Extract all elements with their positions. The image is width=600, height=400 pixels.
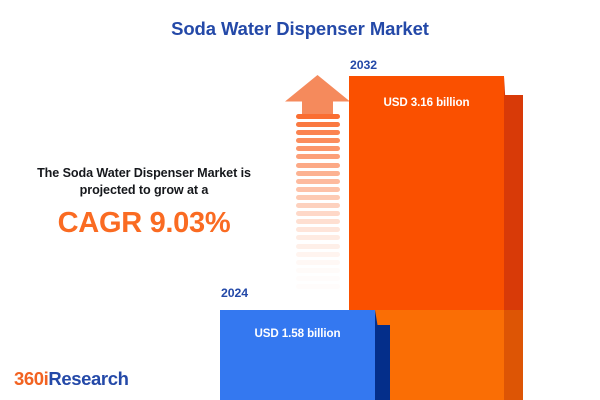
arrow-shaft-stripe	[296, 211, 340, 216]
arrow-shaft-stripe	[296, 130, 340, 135]
bar-2032-year-label: 2032	[350, 58, 377, 72]
bar-2024-front-face	[220, 310, 375, 400]
statement-block: The Soda Water Dispenser Market is proje…	[8, 165, 280, 239]
bar-2024-value-label: USD 1.58 billion	[220, 327, 375, 340]
page-title: Soda Water Dispenser Market	[0, 18, 600, 40]
bar-2024: 2024 USD 1.58 billion	[212, 286, 397, 400]
brand-logo-part-a: 360i	[14, 368, 48, 389]
infographic-canvas: Soda Water Dispenser Market The Soda Wat…	[0, 0, 600, 400]
arrow-shaft-stripe	[296, 260, 340, 265]
up-arrow-shaft-icon	[296, 114, 340, 296]
statement-text: The Soda Water Dispenser Market is proje…	[8, 165, 280, 199]
arrow-shaft-stripe	[296, 244, 340, 249]
cagr-value: CAGR 9.03%	[8, 207, 280, 239]
arrow-shaft-stripe	[296, 138, 340, 143]
arrow-shaft-stripe	[296, 163, 340, 168]
arrow-shaft-stripe	[296, 114, 340, 119]
bar-2024-year-label: 2024	[221, 286, 248, 300]
brand-logo: 360iResearch	[14, 368, 129, 390]
arrow-shaft-stripe	[296, 195, 340, 200]
arrow-shaft-stripe	[296, 235, 340, 240]
arrow-shaft-stripe	[296, 276, 340, 281]
arrow-shaft-stripe	[296, 268, 340, 273]
arrow-shaft-stripe	[296, 179, 340, 184]
bar-2032-value-label: USD 3.16 billion	[349, 96, 504, 109]
bar-2024-side-face	[375, 325, 390, 400]
arrow-shaft-stripe	[296, 146, 340, 151]
brand-logo-part-b: Research	[48, 368, 128, 389]
arrow-shaft-stripe	[296, 203, 340, 208]
arrow-shaft-stripe	[296, 154, 340, 159]
arrow-shaft-stripe	[296, 187, 340, 192]
arrow-shaft-stripe	[296, 122, 340, 127]
bar-overlap-side-tint	[504, 310, 523, 400]
arrow-shaft-stripe	[296, 227, 340, 232]
arrow-shaft-stripe	[296, 219, 340, 224]
arrow-shaft-stripe	[296, 171, 340, 176]
arrow-shaft-stripe	[296, 252, 340, 257]
